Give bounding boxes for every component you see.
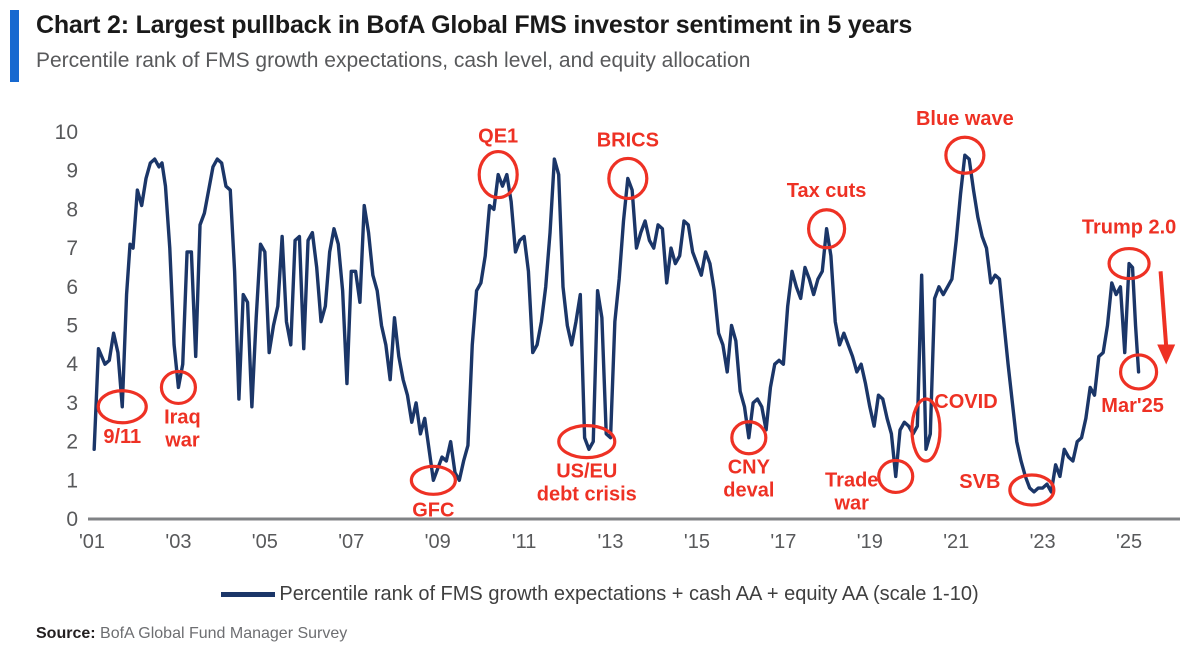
chart-legend: Percentile rank of FMS growth expectatio… (0, 578, 1200, 610)
x-tick-label: '17 (770, 531, 796, 553)
y-tick-label: 10 (55, 121, 78, 144)
x-tick-label: '25 (1116, 531, 1142, 553)
annotation-label: BRICS (597, 129, 659, 151)
x-tick-label: '19 (857, 531, 883, 553)
annotation-label: deval (723, 480, 774, 502)
arrow-head-icon (1157, 344, 1175, 364)
accent-bar (10, 10, 19, 82)
annotation-label: debt crisis (537, 484, 637, 506)
x-tick-label: '09 (425, 531, 451, 553)
annotation-label: GFC (412, 499, 454, 521)
annotation-label: Mar'25 (1101, 395, 1164, 417)
page-subtitle: Percentile rank of FMS growth expectatio… (36, 49, 750, 73)
y-axis-tick-labels: 012345678910 (55, 121, 79, 531)
x-tick-label: '07 (338, 531, 364, 553)
y-tick-label: 6 (66, 276, 78, 299)
chart-page: Chart 2: Largest pullback in BofA Global… (0, 0, 1200, 663)
page-title: Chart 2: Largest pullback in BofA Global… (36, 11, 912, 40)
annotation-label: Iraq (164, 406, 201, 428)
y-tick-label: 4 (66, 353, 78, 376)
annotation-label: Blue wave (916, 108, 1014, 130)
x-tick-label: '05 (252, 531, 278, 553)
annotation-label: Trump 2.0 (1082, 217, 1176, 239)
annotation-label: war (164, 429, 200, 451)
annotation-label: QE1 (478, 126, 518, 148)
line-chart-svg: 012345678910 '01'03'05'07'09'11'13'15'17… (0, 96, 1200, 566)
annotation-label: CNY (728, 457, 771, 479)
x-tick-label: '01 (79, 531, 105, 553)
y-tick-label: 8 (66, 198, 78, 221)
annotation-label: COVID (934, 391, 997, 413)
annotation-label: Tax cuts (787, 180, 867, 202)
annotation-label: 9/11 (103, 426, 141, 448)
x-axis-tick-labels: '01'03'05'07'09'11'13'15'17'19'21'23'25 (79, 531, 1142, 553)
annotation-group: 9/11IraqwarGFCQE1US/EUdebt crisisBRICSCN… (98, 108, 1176, 521)
annotation-label: war (833, 492, 869, 514)
legend-label: Percentile rank of FMS growth expectatio… (279, 583, 978, 606)
chart-plot-area: 012345678910 '01'03'05'07'09'11'13'15'17… (0, 96, 1200, 566)
annotation-label: SVB (959, 471, 1000, 493)
y-tick-label: 2 (66, 431, 78, 454)
chart-header: Chart 2: Largest pullback in BofA Global… (0, 0, 1200, 96)
source-text: BofA Global Fund Manager Survey (96, 625, 348, 642)
x-tick-label: '03 (165, 531, 191, 553)
y-tick-label: 5 (66, 315, 78, 338)
y-tick-label: 1 (66, 469, 78, 492)
y-tick-label: 0 (66, 508, 78, 531)
x-tick-label: '21 (943, 531, 969, 553)
source-prefix: Source: (36, 625, 96, 642)
pullback-arrow (1157, 271, 1175, 364)
x-tick-label: '11 (512, 531, 537, 553)
y-tick-label: 9 (66, 160, 78, 183)
legend-swatch-icon (221, 592, 275, 597)
x-tick-label: '23 (1030, 531, 1056, 553)
source-note: Source: BofA Global Fund Manager Survey (36, 625, 347, 643)
arrow-shaft (1161, 271, 1167, 346)
series-line-fms-percentile (94, 155, 1138, 492)
annotation-label: Trade (825, 469, 878, 491)
x-tick-label: '13 (597, 531, 623, 553)
y-tick-label: 7 (66, 237, 78, 260)
y-tick-label: 3 (66, 392, 78, 415)
x-tick-label: '15 (684, 531, 710, 553)
annotation-label: US/EU (556, 461, 617, 483)
